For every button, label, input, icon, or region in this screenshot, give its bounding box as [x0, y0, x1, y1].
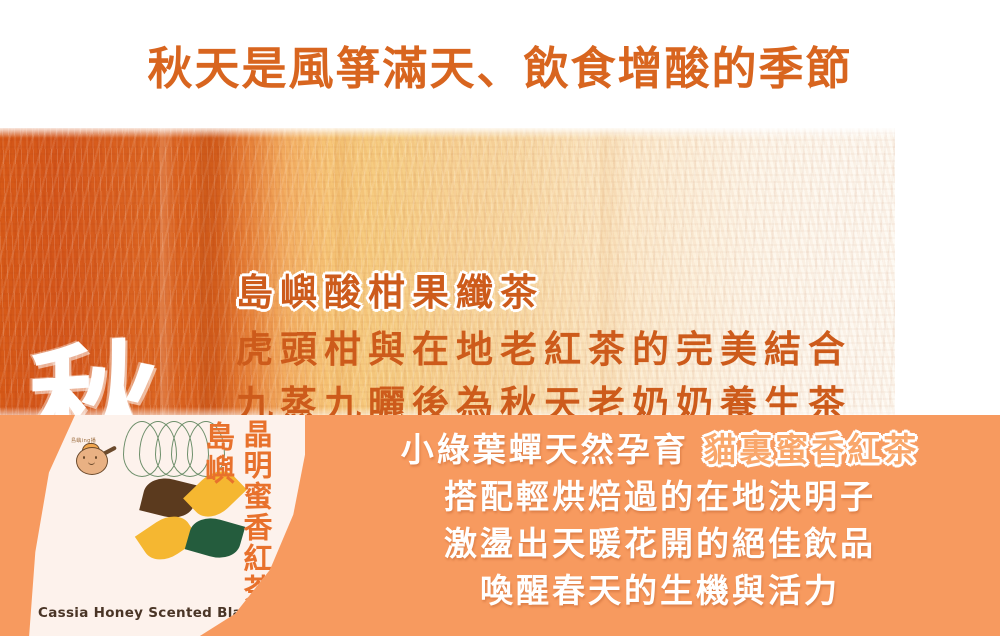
autumn-watercolor-panel: 秋 島嶼酸柑果纖茶 虎頭柑與在地老紅茶的完美結合 九蒸九曬後為秋天老奶奶養生茶 … [0, 128, 895, 415]
promo-text-block: 小綠葉蟬天然孕育 貓裏蜜香紅茶 搭配輕烘焙過的在地決明子 激盪出天暖花開的絕佳飲… [330, 433, 990, 607]
leaf-green [185, 513, 245, 564]
mascot-eye-right [95, 456, 97, 459]
promo-line-3: 激盪出天暖花開的絕佳飲品 [330, 527, 990, 560]
promo-line-1-plain: 小綠葉蟬天然孕育 [401, 430, 704, 469]
package-inner: 島嶼ing播 島嶼 晶明蜜香紅茶 [13, 415, 305, 636]
panel-top-fade [0, 128, 895, 138]
promo-line-1-highlight: 貓裏蜜香紅茶 [703, 430, 919, 469]
package-brand-vertical: 島嶼 [201, 421, 231, 487]
autumn-brush-glyph: 秋 [28, 336, 160, 415]
mascot-face [82, 456, 100, 464]
promo-line-4: 喚醒春天的生機與活力 [330, 574, 990, 607]
package-left-taper [13, 415, 75, 636]
mascot-icon: 島嶼ing播 [71, 437, 125, 479]
promo-line-2: 搭配輕烘焙過的在地決明子 [330, 480, 990, 513]
leaf-logo-icon [141, 475, 245, 571]
mascot-mouth [88, 460, 95, 465]
tea-package-art: 島嶼ing播 島嶼 晶明蜜香紅茶 [13, 415, 305, 636]
promo-line-1: 小綠葉蟬天然孕育 貓裏蜜香紅茶 [330, 433, 990, 466]
poster-root: 秋天是風箏滿天、飲食增酸的季節 秋 島嶼酸柑果纖茶 虎頭柑與在地老紅茶的完美結合… [0, 0, 1000, 636]
orange-promo-band: 島嶼ing播 島嶼 晶明蜜香紅茶 [0, 415, 1000, 636]
autumn-line-1: 島嶼酸柑果纖茶 [236, 274, 895, 311]
autumn-text-block: 島嶼酸柑果纖茶 虎頭柑與在地老紅茶的完美結合 九蒸九曬後為秋天老奶奶養生茶 柑香… [236, 274, 895, 415]
brush-edge-1 [200, 128, 238, 415]
mascot-eye-left [83, 456, 85, 459]
title-bar: 秋天是風箏滿天、飲食增酸的季節 [0, 0, 1000, 128]
page-title: 秋天是風箏滿天、飲食增酸的季節 [147, 32, 852, 97]
package-product-vertical: 晶明蜜香紅茶 [241, 419, 270, 605]
brush-edge-2 [160, 128, 176, 415]
package-english-name: Cassia Honey Scented Black Tea [38, 605, 288, 621]
autumn-line-2: 虎頭柑與在地老紅茶的完美結合 [236, 331, 895, 368]
autumn-line-3: 九蒸九曬後為秋天老奶奶養生茶 [236, 386, 895, 415]
